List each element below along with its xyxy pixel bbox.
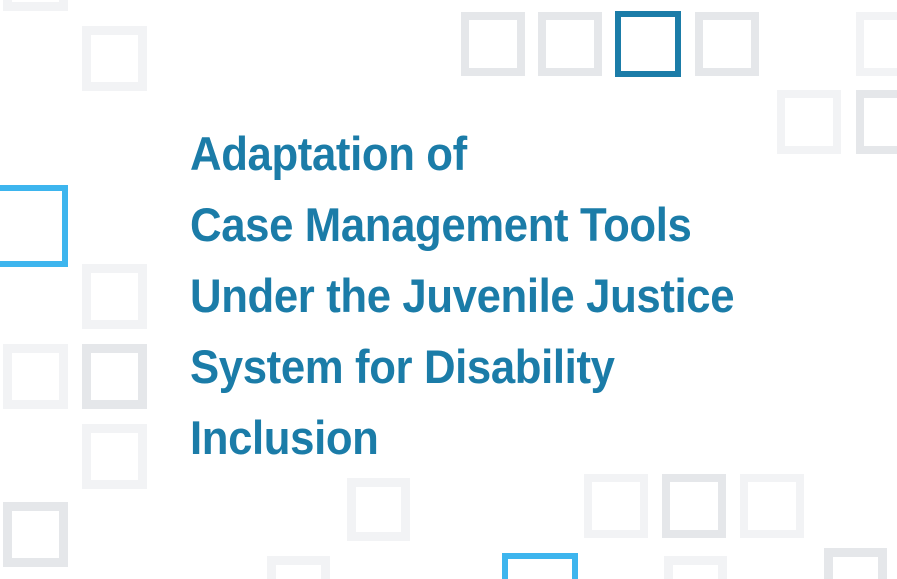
square-mid-left-col2-3-decor [82,424,147,489]
square-upper-right-2-decor [856,90,897,154]
square-top-right-edge-decor [856,12,897,76]
square-bottom-right-low-decor [824,548,887,579]
square-left-accent-large-decor [0,185,68,267]
square-mid-left-col2-1-decor [82,264,147,329]
page-title: Adaptation ofCase Management ToolsUnder … [190,118,850,473]
square-mid-left-col1-decor [3,344,68,409]
title-line-5: Inclusion [190,402,804,473]
square-mid-left-col2-2-decor [82,344,147,409]
square-top-row-4-decor [695,12,759,76]
square-top-row-2-decor [538,12,602,76]
square-top-row-1-decor [461,12,525,76]
square-top-col2-decor [82,26,147,91]
square-bottom-row-2-decor [662,474,726,538]
square-bottom-mid-low-decor [267,556,330,579]
title-line-1: Adaptation of [190,118,804,189]
square-top-left-cut-decor [3,0,68,11]
square-bottom-row-3-decor [740,474,804,538]
square-bottom-mid-decor [347,478,410,541]
title-line-3: Under the Juvenile Justice [190,260,804,331]
title-line-4: System for Disability [190,331,804,402]
title-line-2: Case Management Tools [190,189,804,260]
square-bottom-row-1-decor [584,474,648,538]
square-top-row-accent-decor [615,11,681,77]
slide-canvas: Adaptation ofCase Management ToolsUnder … [0,0,897,579]
square-bottom-accent-decor [502,553,578,579]
square-bottom-low-2-decor [664,556,727,579]
square-bottom-left-decor [3,502,68,567]
